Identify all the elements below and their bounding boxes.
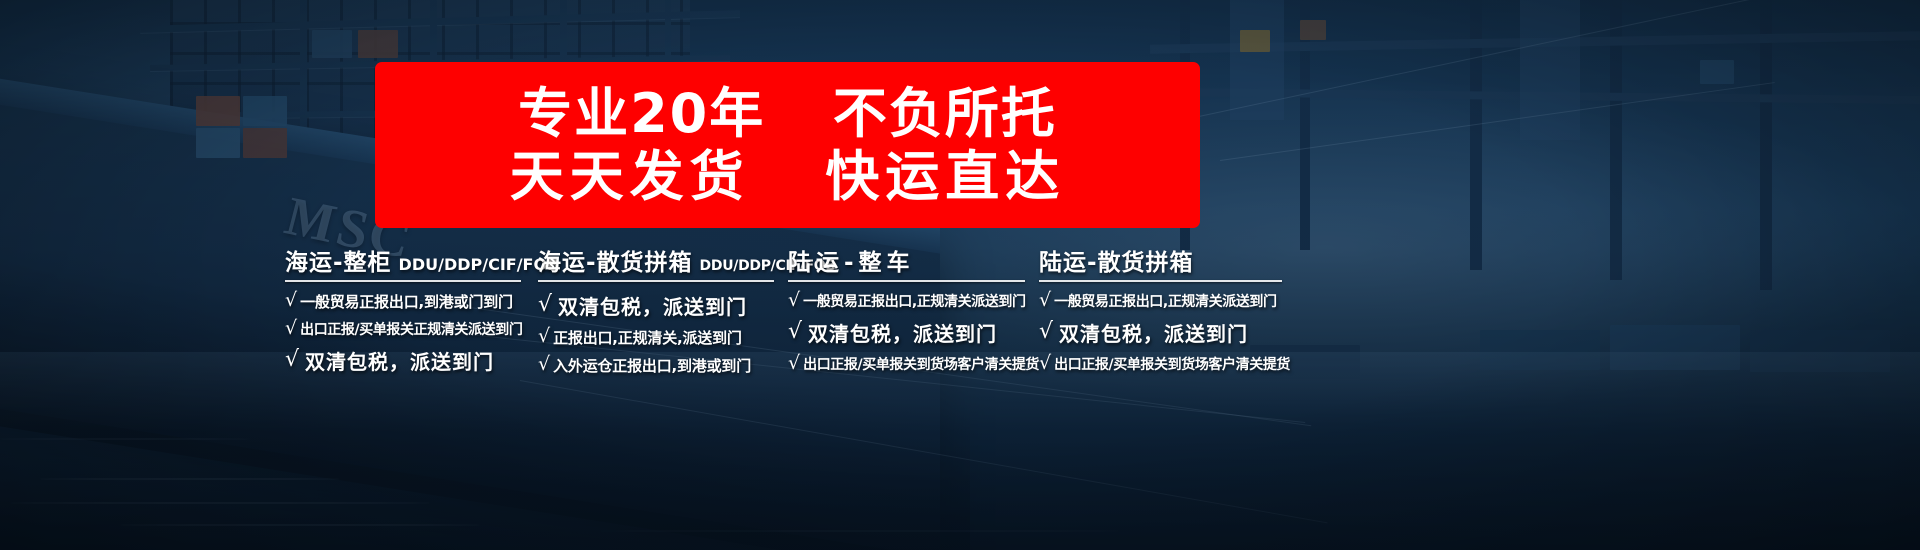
service-title: 陆运-整车 xyxy=(788,243,915,277)
headline-line-2-part-2: 快运直达 xyxy=(825,145,1065,208)
service-item: √ 出口正报/买单报关到货场客户清关提货 xyxy=(1039,354,1299,374)
service-item-text: 一般贸易正报出口,正规清关派送到门 xyxy=(803,291,1026,311)
service-item: √ 正报出口,正规清关,派送到门 xyxy=(538,327,788,348)
headline-line-1-part-1: 专业20年 xyxy=(518,82,765,145)
service-column-sea-fcl: 海运-整柜 DDU/DDP/CIF/FOB √ 一般贸易正报出口,到港或门到门 … xyxy=(285,243,538,403)
service-item: √ 一般贸易正报出口,正规清关派送到门 xyxy=(788,291,1039,311)
check-icon: √ xyxy=(788,321,802,343)
header-divider xyxy=(538,280,774,282)
service-title: 陆运-散货拼箱 xyxy=(1039,243,1194,277)
service-item-text: 一般贸易正报出口,到港或门到门 xyxy=(300,291,513,312)
service-item: √ 出口正报/买单报关正规清关派送到门 xyxy=(285,319,538,339)
headline-line-1-part-2: 不负所托 xyxy=(833,82,1057,145)
header-divider xyxy=(285,280,521,282)
check-icon: √ xyxy=(285,291,297,310)
check-icon: √ xyxy=(1039,321,1053,343)
service-item-text: 双清包税，派送到门 xyxy=(558,291,747,320)
service-column-header: 海运-散货拼箱 DDU/DDP/CIF/FOB xyxy=(538,243,788,277)
headline-red-plate: 专业20年 不负所托 天天发货 快运直达 xyxy=(375,62,1200,228)
service-item-text: 双清包税，派送到门 xyxy=(808,318,997,347)
headline-line-2-part-1: 天天发货 xyxy=(510,145,750,208)
service-item: √ 出口正报/买单报关到货场客户清关提货 xyxy=(788,354,1039,374)
service-item-text: 出口正报/买单报关到货场客户清关提货 xyxy=(803,354,1039,374)
service-columns: 海运-整柜 DDU/DDP/CIF/FOB √ 一般贸易正报出口,到港或门到门 … xyxy=(285,243,1575,403)
check-icon: √ xyxy=(788,354,800,373)
service-item-text: 正报出口,正规清关,派送到门 xyxy=(553,327,742,348)
service-item: √ 一般贸易正报出口,正规清关派送到门 xyxy=(1039,291,1299,311)
service-item-text: 一般贸易正报出口,正规清关派送到门 xyxy=(1054,291,1277,311)
service-item-text: 出口正报/买单报关正规清关派送到门 xyxy=(300,319,522,339)
check-icon: √ xyxy=(285,319,297,338)
header-divider xyxy=(1039,280,1282,282)
service-column-header: 海运-整柜 DDU/DDP/CIF/FOB xyxy=(285,243,538,277)
service-column-header: 陆运-整车 xyxy=(788,243,1039,277)
service-column-header: 陆运-散货拼箱 xyxy=(1039,243,1299,277)
header-divider xyxy=(788,280,1025,282)
service-item: √ 双清包税，派送到门 xyxy=(285,346,538,375)
check-icon: √ xyxy=(538,294,552,316)
service-item: √ 入外运仓正报出口,到港或到门 xyxy=(538,355,788,376)
check-icon: √ xyxy=(1039,354,1051,373)
service-item-text: 出口正报/买单报关到货场客户清关提货 xyxy=(1054,354,1290,374)
check-icon: √ xyxy=(1039,291,1051,310)
check-icon: √ xyxy=(788,291,800,310)
service-title: 海运-散货拼箱 xyxy=(538,243,693,277)
promo-banner: MSC xyxy=(0,0,1920,550)
service-item-text: 入外运仓正报出口,到港或到门 xyxy=(553,355,751,376)
service-item: √ 双清包税，派送到门 xyxy=(1039,318,1299,347)
headline-line-1: 专业20年 不负所托 xyxy=(518,83,1057,144)
check-icon: √ xyxy=(538,355,550,374)
service-item-text: 双清包税，派送到门 xyxy=(1059,318,1248,347)
check-icon: √ xyxy=(538,327,550,346)
service-column-land-lcl: 陆运-散货拼箱 √ 一般贸易正报出口,正规清关派送到门 √ 双清包税，派送到门 … xyxy=(1039,243,1299,403)
service-item: √ 一般贸易正报出口,到港或门到门 xyxy=(285,291,538,312)
headline-line-2: 天天发货 快运直达 xyxy=(510,146,1066,207)
check-icon: √ xyxy=(285,349,299,371)
service-column-land-ftl: 陆运-整车 √ 一般贸易正报出口,正规清关派送到门 √ 双清包税，派送到门 √ … xyxy=(788,243,1039,403)
service-title: 海运-整柜 xyxy=(285,243,392,277)
service-item-text: 双清包税，派送到门 xyxy=(305,346,494,375)
service-column-sea-lcl: 海运-散货拼箱 DDU/DDP/CIF/FOB √ 双清包税，派送到门 √ 正报… xyxy=(538,243,788,403)
service-item: √ 双清包税，派送到门 xyxy=(788,318,1039,347)
service-item: √ 双清包税，派送到门 xyxy=(538,291,788,320)
service-subtitle: DDU/DDP/CIF/FOB xyxy=(399,255,560,274)
